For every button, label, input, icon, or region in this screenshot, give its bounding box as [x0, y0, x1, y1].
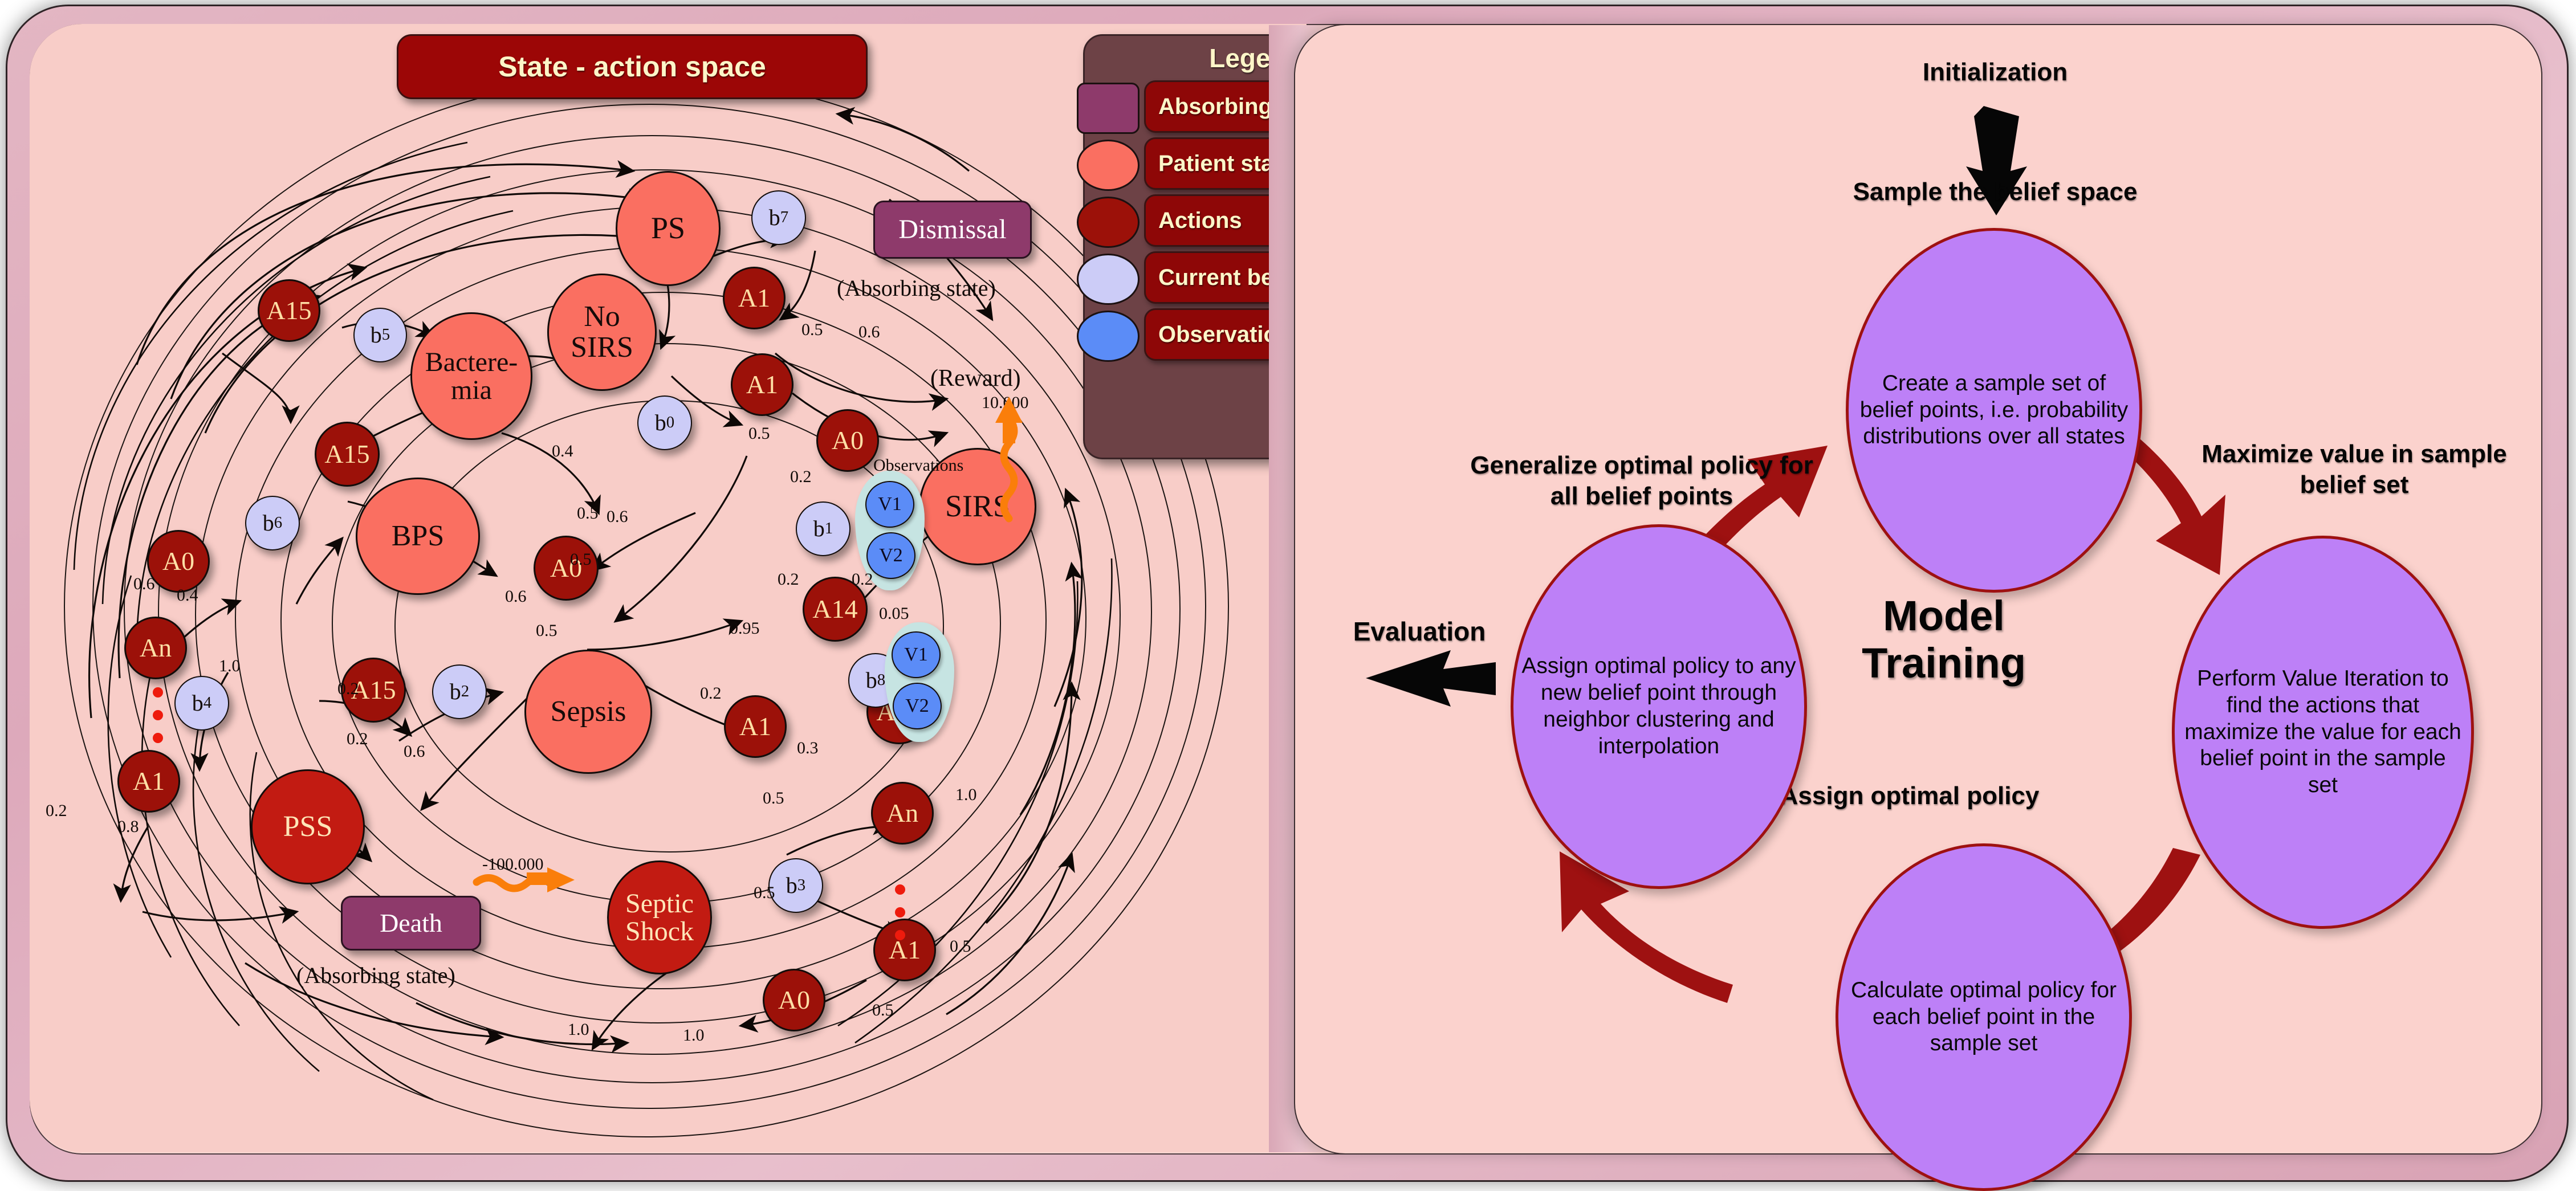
node-label: SepticShock: [625, 890, 694, 946]
prob-label-10: 0.95: [730, 619, 760, 638]
ellipsis-dots-right: [895, 884, 905, 953]
evaluation-label: Evaluation: [1317, 615, 1522, 647]
prob-label-27: 0.6: [404, 742, 425, 761]
caption-text: (Reward): [930, 365, 1021, 391]
cycle-node-assign-policy[interactable]: Assign optimal policy to any new belief …: [1511, 524, 1807, 889]
prob-label-12: 0.2: [700, 684, 722, 703]
prob-label-1: 0.6: [607, 507, 628, 527]
legend-swatch-current-belief: [1077, 254, 1140, 305]
prob-label-23: 0.8: [117, 817, 139, 837]
node-label: Death: [380, 909, 442, 936]
prob-label-21: 0.4: [177, 586, 198, 605]
belief-node-b5[interactable]: b5: [353, 308, 407, 362]
prob-label-7: 0.2: [852, 570, 873, 589]
action-node-a0-upper[interactable]: A1: [723, 267, 786, 329]
state-node-pss[interactable]: PSS: [251, 769, 365, 884]
prob-label-11: 0.05: [879, 604, 909, 623]
legend-swatch-observations: [1077, 311, 1140, 362]
prob-label-9: 0.2: [790, 467, 812, 487]
action-node-a1-left[interactable]: A1: [117, 750, 180, 813]
prob-label-8: 0.2: [778, 570, 799, 589]
caption-text: 10.000: [982, 393, 1029, 412]
action-node-a1-sepsis[interactable]: A1: [724, 695, 787, 758]
prob-label-29: 0.5: [754, 883, 775, 903]
prob-label-20: 0.6: [133, 574, 155, 594]
legend-swatch-actions: [1077, 197, 1140, 248]
state-node-bacteremia[interactable]: Bactere-mia: [410, 312, 532, 440]
caption-text: (Absorbing state): [296, 962, 455, 988]
prob-label-2: 0.5: [570, 550, 592, 569]
legend-swatch-absorbing-states: [1077, 83, 1140, 134]
sample-belief-space-label: Sample the belief space: [1790, 177, 2200, 207]
node-label: Dismissal: [898, 215, 1006, 243]
observations-label: Observations: [873, 456, 963, 475]
label-text: Assign optimal policy: [1780, 782, 2040, 810]
action-node-a0-bottom[interactable]: A0: [763, 969, 825, 1031]
belief-node-b3[interactable]: b3: [768, 858, 823, 913]
reward-caption: (Reward): [930, 365, 1021, 392]
prob-label-15: 1.0: [955, 785, 977, 805]
state-node-no-sirs[interactable]: NoSIRS: [547, 274, 657, 391]
label-text: Observations: [873, 456, 963, 475]
death-absorbing-caption: (Absorbing state): [296, 962, 455, 989]
initialization-label: Initialization: [1858, 57, 2132, 88]
ellipsis-dots-left: [153, 687, 163, 756]
prob-label-22: 1.0: [219, 656, 241, 676]
node-label: Bactere-mia: [425, 348, 518, 405]
belief-node-b4[interactable]: b4: [174, 676, 229, 731]
prob-label-16: 0.5: [950, 937, 971, 956]
prob-label-13: 0.3: [797, 739, 819, 758]
prob-label-6: 0.6: [858, 323, 880, 342]
state-node-septic-shock[interactable]: SepticShock: [607, 860, 712, 974]
state-node-sepsis[interactable]: Sepsis: [524, 650, 652, 774]
prob-label-14: 0.5: [763, 789, 784, 808]
reward-positive-value: 10.000: [982, 393, 1029, 413]
prob-label-3: 0.5: [536, 621, 557, 641]
action-node-a15-2[interactable]: A15: [315, 422, 380, 487]
caption-text: (Absorbing state): [837, 275, 996, 301]
node-label: NoSIRS: [571, 301, 633, 362]
action-node-an-left[interactable]: An: [124, 617, 187, 679]
prob-label-26: 0.2: [347, 729, 368, 749]
cycle-node-value-iteration[interactable]: Perform Value Iteration to find the acti…: [2172, 536, 2474, 929]
state-action-space-title-text: State - action space: [498, 50, 766, 83]
node-label: PS: [651, 213, 685, 244]
action-node-a0-obs[interactable]: A0: [816, 409, 879, 472]
label-text: Sample the belief space: [1853, 178, 2138, 206]
caption-text: -100.000: [482, 855, 544, 874]
cycle-node-sample-belief-points[interactable]: Create a sample set of belief points, i.…: [1846, 228, 2142, 593]
dismissal-absorbing-caption: (Absorbing state): [837, 275, 996, 301]
belief-node-b2[interactable]: b2: [432, 664, 487, 719]
state-node-ps[interactable]: PS: [616, 171, 721, 286]
state-action-space-title: State - action space: [397, 34, 868, 99]
node-label: Sepsis: [551, 696, 626, 727]
belief-node-b7[interactable]: b7: [751, 190, 806, 245]
belief-node-b6[interactable]: b6: [245, 496, 300, 550]
observation-node-v2-lower[interactable]: V2: [893, 683, 942, 729]
prob-label-17: 0.5: [872, 1001, 894, 1020]
node-label: BPS: [392, 521, 445, 552]
belief-node-b0[interactable]: b0: [637, 395, 692, 450]
belief-node-b1[interactable]: b1: [796, 501, 850, 556]
observation-node-v1-upper[interactable]: V1: [865, 481, 914, 528]
prob-label-25: 0.2: [337, 679, 359, 699]
prob-label-30: 0.6: [505, 587, 527, 606]
prob-label-19: 0.5: [577, 504, 599, 523]
action-node-an-right[interactable]: An: [871, 782, 934, 845]
label-text: Initialization: [1923, 58, 2068, 86]
action-node-a1-mid[interactable]: A1: [731, 353, 793, 416]
maximize-value-label: Maximize value in sample belief set: [2126, 439, 2576, 500]
prob-label-24: 0.2: [46, 801, 67, 821]
prob-label-4: 0.5: [748, 424, 770, 443]
prob-label-28: 1.0: [568, 1020, 589, 1039]
generalize-policy-label: Generalize optimal policy for all belief…: [1414, 450, 1870, 511]
node-label: PSS: [283, 811, 333, 842]
model-training-title: Model Training: [1824, 593, 2064, 687]
absorbing-state-death[interactable]: Death: [341, 896, 481, 951]
prob-label-0: 0.4: [552, 442, 573, 461]
observation-node-v2-upper[interactable]: V2: [866, 532, 915, 579]
reward-negative-value: -100.000: [482, 855, 544, 874]
observation-node-v1-lower[interactable]: V1: [892, 631, 941, 678]
prob-label-18: 1.0: [683, 1026, 705, 1045]
cycle-node-calculate-policy[interactable]: Calculate optimal policy for each belief…: [1836, 843, 2132, 1191]
action-node-a0-left[interactable]: A0: [147, 530, 210, 593]
action-node-a15-1[interactable]: A15: [258, 279, 320, 342]
absorbing-state-dismissal[interactable]: Dismissal: [873, 201, 1032, 259]
legend-swatch-patient-states: [1077, 140, 1140, 191]
prob-label-5: 0.5: [801, 320, 823, 340]
node-label: SIRS: [945, 491, 1010, 523]
state-node-bps[interactable]: BPS: [356, 478, 480, 595]
label-text: Evaluation: [1353, 617, 1486, 646]
